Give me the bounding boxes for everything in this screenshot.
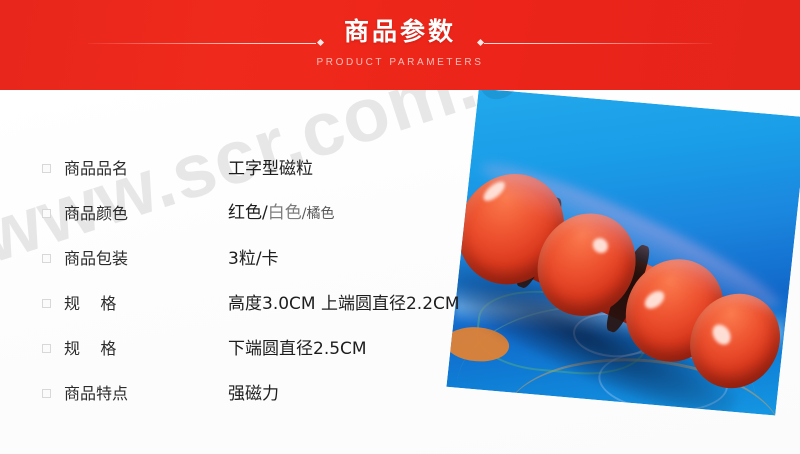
param-value-part-1: 红色/: [228, 203, 268, 223]
param-label: 商品颜色: [64, 204, 184, 224]
product-photo-canvas: [446, 90, 800, 416]
param-value: 红色/白色/橘色: [228, 202, 334, 225]
bullet-square-icon: [42, 299, 51, 308]
product-image: [446, 90, 800, 416]
table-row: 规 格 高度3.0CM 上端圆直径2.2CM: [42, 281, 482, 326]
bullet-square-icon: [42, 254, 51, 263]
bullet-square-icon: [42, 344, 51, 353]
bullet-square-icon: [42, 209, 51, 218]
bullet-square-icon: [42, 164, 51, 173]
product-parameters-page: 商品参数 PRODUCT PARAMETERS: [0, 0, 800, 454]
body-area: 商品品名 工字型磁粒 商品颜色 红色/白色/橘色 商品包装 3粒/卡 规 格 高…: [0, 90, 800, 454]
header-banner: 商品参数 PRODUCT PARAMETERS: [0, 0, 800, 90]
param-label: 商品特点: [64, 384, 184, 404]
table-row: 商品颜色 红色/白色/橘色: [42, 191, 482, 236]
page-subtitle: PRODUCT PARAMETERS: [0, 56, 800, 69]
header-inner: 商品参数 PRODUCT PARAMETERS: [0, 0, 800, 90]
param-value: 高度3.0CM 上端圆直径2.2CM: [228, 293, 460, 315]
param-value: 工字型磁粒: [228, 158, 313, 180]
param-value: 强磁力: [228, 383, 279, 405]
param-value-part-3: /橘色: [302, 206, 335, 222]
bullet-square-icon: [42, 389, 51, 398]
param-label: 商品包装: [64, 249, 184, 269]
param-value: 下端圆直径2.5CM: [228, 338, 367, 360]
param-label: 商品品名: [64, 159, 184, 179]
param-label: 规 格: [64, 339, 184, 359]
parameter-table: 商品品名 工字型磁粒 商品颜色 红色/白色/橘色 商品包装 3粒/卡 规 格 高…: [42, 146, 482, 416]
param-value: 3粒/卡: [228, 248, 279, 270]
param-label: 规 格: [64, 294, 184, 314]
table-row: 商品包装 3粒/卡: [42, 236, 482, 281]
table-row: 规 格 下端圆直径2.5CM: [42, 326, 482, 371]
param-value-part-2: 白色: [268, 203, 302, 223]
table-row: 商品特点 强磁力: [42, 371, 482, 416]
page-title: 商品参数: [0, 17, 800, 47]
table-row: 商品品名 工字型磁粒: [42, 146, 482, 191]
